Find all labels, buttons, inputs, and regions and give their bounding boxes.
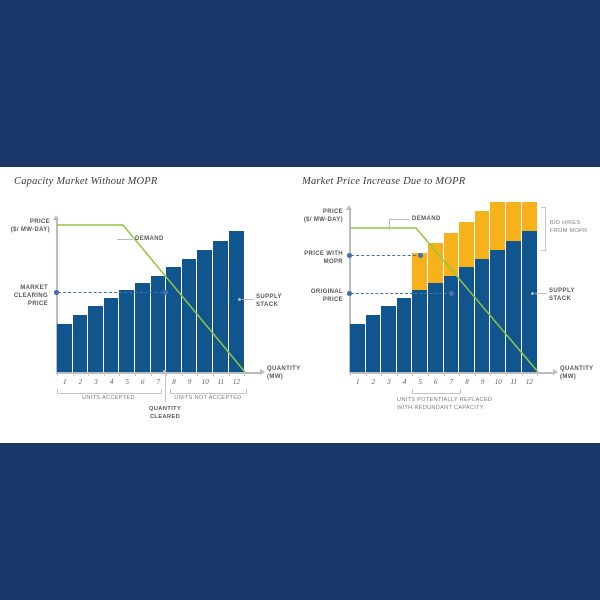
y-axis-arrow-icon-left [53,215,59,220]
tick-label-9-right: 9 [476,378,490,386]
bar-hike-unit-10 [490,202,506,250]
bar-unit-9-right [475,259,491,372]
supply-stack-label-line1-right: SUPPLY [549,287,575,295]
tick-5-left [135,372,136,376]
demand-label-left: DEMAND [135,235,164,243]
bar-hike-unit-8 [459,222,475,267]
demand-leader-left [117,239,133,240]
x-axis-left [56,372,261,374]
bar-hike-unit-9 [475,211,491,259]
tick-6-right [444,372,445,376]
tick-label-5-left: 5 [120,378,134,386]
bid-hikes-line2: FROM MOPR [550,228,588,236]
tick-2-left [88,372,89,376]
tick-11-right [522,372,523,376]
bar-unit-4-right [397,298,413,372]
bracket-bid-hikes [541,207,546,251]
bar-unit-9 [182,259,198,372]
supply-stack-leader-dot-left [238,298,241,301]
tick-label-7-left: 7 [151,378,165,386]
demand-leader-vertical-right [389,219,390,230]
tick-label-1-right: 1 [351,378,365,386]
x-axis-label-right: QUANTITY (MW) [560,365,593,381]
bid-hikes-line1: BID HIKES [550,220,588,228]
market-clearing-price-dot-intersect [163,290,168,295]
x-axis-arrow-icon-right [553,369,558,375]
bar-hike-unit-6 [428,243,444,283]
tick-label-6-right: 6 [429,378,443,386]
bar-unit-8-right [459,267,475,372]
bar-unit-12-right [522,231,538,372]
tick-10-left [213,372,214,376]
original-price-dot-intersect [449,291,454,296]
bar-unit-11 [213,241,229,372]
bar-unit-4 [104,298,120,372]
tick-label-9-left: 9 [183,378,197,386]
tick-label-7-right: 7 [444,378,458,386]
tick-label-4-left: 4 [105,378,119,386]
tick-label-2-right: 2 [366,378,380,386]
price-with-mopr-label: PRICE WITH MOPR [286,250,343,266]
market-clearing-price-line1: MARKET [0,284,48,292]
tick-1-left [73,372,74,376]
y-axis-label-left: PRICE ($/ MW-DAY) [0,218,50,234]
supply-stack-label-line2-right: STACK [549,295,575,303]
tick-9-right [490,372,491,376]
supply-stack-leader-dot-right [531,292,534,295]
tick-label-10-right: 10 [491,378,505,386]
y-axis-label-line1-right: PRICE [290,208,343,216]
tick-label-12-left: 12 [229,378,243,386]
original-price-dot-axis [347,291,352,296]
units-not-accepted-label: UNITS NOT ACCEPTED [164,395,252,403]
bar-unit-10-right [490,250,506,372]
tick-9-left [197,372,198,376]
tick-label-10-left: 10 [198,378,212,386]
bar-unit-1 [57,324,73,372]
tick-7-right [459,372,460,376]
tick-label-5-right: 5 [413,378,427,386]
tick-0-left [57,372,58,376]
supply-stack-leader-right [535,293,547,294]
units-replaced-label: UNITS POTENTIALLY REPLACED WITH REDUNDAN… [397,397,492,412]
tick-6-left [151,372,152,376]
tick-label-3-left: 3 [89,378,103,386]
price-with-mopr-dot-intersect [418,253,423,258]
supply-stack-label-left: SUPPLY STACK [256,293,282,309]
original-price-label: ORIGINAL PRICE [286,288,343,304]
bid-hikes-label: BID HIKES FROM MOPR [550,220,588,235]
tick-label-12-right: 12 [522,378,536,386]
bar-unit-10 [197,250,213,372]
original-price-line [351,293,452,294]
tick-11-left [229,372,230,376]
y-axis-label-line1-left: PRICE [0,218,50,226]
tick-label-1-left: 1 [58,378,72,386]
tick-label-3-right: 3 [382,378,396,386]
bar-unit-12 [229,231,245,372]
quantity-cleared-line2: CLEARED [130,414,200,422]
price-with-mopr-dot-axis [347,253,352,258]
x-axis-arrow-icon-left [260,369,265,375]
demand-leader-right [389,219,409,220]
market-clearing-price-line [58,292,168,293]
price-with-mopr-line [351,255,421,256]
market-clearing-price-line3: PRICE [0,300,48,308]
bracket-units-accepted [57,389,162,394]
tick-label-8-left: 8 [167,378,181,386]
x-axis-label-line1-right: QUANTITY [560,365,593,373]
bar-unit-5-right [412,290,428,372]
market-clearing-price-line2: CLEARING [0,292,48,300]
chart-capacity-market-without-mopr: Capacity Market Without MOPR PRICE ($/ M… [0,167,300,443]
bar-hike-unit-5 [412,253,428,290]
tick-label-4-right: 4 [398,378,412,386]
original-price-line2: PRICE [286,296,343,304]
bar-unit-6 [135,283,151,372]
bracket-units-not-accepted [170,389,247,394]
tick-7-left [166,372,167,376]
bar-unit-8 [166,267,182,372]
chart-market-price-increase-due-to-mopr: Market Price Increase Due to MOPR PRICE … [292,167,600,443]
x-axis-label-line2-right: (MW) [560,373,593,381]
supply-stack-leader-left [242,299,254,300]
tick-label-11-right: 11 [507,378,521,386]
tick-label-6-left: 6 [136,378,150,386]
units-accepted-label: UNITS ACCEPTED [57,395,160,403]
y-axis-label-right: PRICE ($/ MW-DAY) [290,208,343,224]
bracket-units-replaced [412,389,461,394]
units-replaced-line1: UNITS POTENTIALLY REPLACED [397,397,492,405]
tick-1-right [366,372,367,376]
tick-4-left [119,372,120,376]
tick-label-2-left: 2 [73,378,87,386]
supply-stack-label-line2-left: STACK [256,301,282,309]
bar-unit-1-right [350,324,366,372]
chart-title-right: Market Price Increase Due to MOPR [302,176,465,187]
tick-3-right [397,372,398,376]
tick-3-left [104,372,105,376]
tick-label-8-right: 8 [460,378,474,386]
tick-2-right [381,372,382,376]
plot-area-left [57,227,245,372]
tick-5-right [428,372,429,376]
tick-12-left [244,372,245,376]
bar-unit-3 [88,306,104,372]
tick-label-11-left: 11 [214,378,228,386]
y-axis-label-line2-right: ($/ MW-DAY) [290,216,343,224]
x-axis-right [349,372,554,374]
tick-10-right [506,372,507,376]
supply-stack-label-right: SUPPLY STACK [549,287,575,303]
price-with-mopr-line2: MOPR [286,258,343,266]
bar-unit-5 [119,290,135,372]
bar-unit-6-right [428,283,444,372]
original-price-line1: ORIGINAL [286,288,343,296]
quantity-cleared-line1: QUANTITY [130,406,200,414]
bar-unit-11-right [506,241,522,372]
market-clearing-price-dot-axis [54,290,59,295]
units-replaced-line2: WITH REDUNDANT CAPACITY [397,405,492,413]
chart-title-left: Capacity Market Without MOPR [14,176,158,187]
tick-8-left [182,372,183,376]
supply-stack-label-line1-left: SUPPLY [256,293,282,301]
plot-area-right [350,202,538,372]
market-clearing-price-label: MARKET CLEARING PRICE [0,284,48,308]
content-panel: Capacity Market Without MOPR PRICE ($/ M… [0,167,600,443]
bar-hike-unit-11 [506,202,522,241]
bar-unit-2 [73,315,89,372]
tick-4-right [412,372,413,376]
quantity-cleared-label: QUANTITY CLEARED [130,406,200,421]
tick-12-right [537,372,538,376]
bar-unit-3-right [381,306,397,372]
bar-unit-2-right [366,315,382,372]
tick-8-right [475,372,476,376]
y-axis-label-line2-left: ($/ MW-DAY) [0,226,50,234]
price-with-mopr-line1: PRICE WITH [286,250,343,258]
bar-hike-unit-7 [444,233,460,276]
bar-hike-unit-12 [522,202,538,231]
tick-0-right [350,372,351,376]
demand-label-right: DEMAND [412,215,441,223]
